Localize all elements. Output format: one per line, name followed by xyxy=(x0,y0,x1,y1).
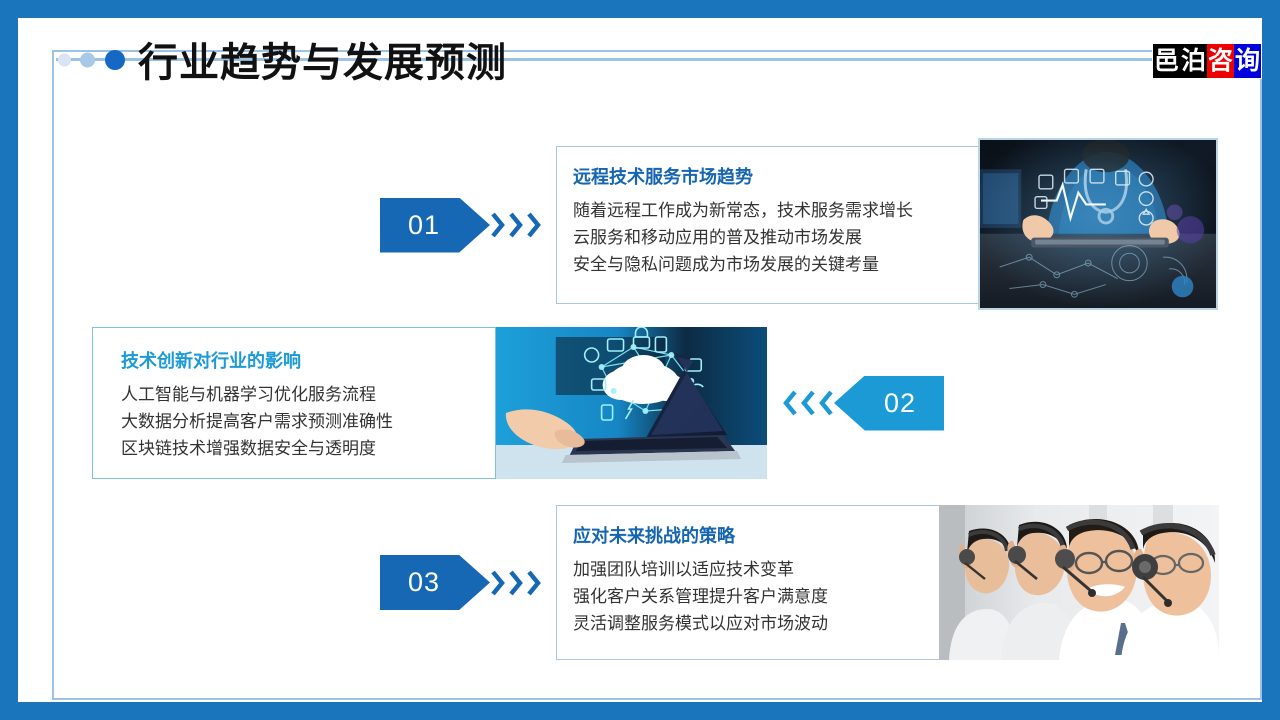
logo-char-1: 邑 xyxy=(1153,44,1180,78)
card-line: 云服务和移动应用的普及推动市场发展 xyxy=(573,224,987,251)
step-number-badge-2: 02 xyxy=(834,376,944,431)
slide: 行业趋势与发展预测 邑 泊 咨 询 01 xyxy=(0,0,1280,720)
card-line: 强化客户关系管理提升客户满意度 xyxy=(573,583,987,610)
content-card-3: 应对未来挑战的策略 加强团队培训以适应技术变革 强化客户关系管理提升客户满意度 … xyxy=(556,505,988,660)
step-number-badge-3: 03 xyxy=(380,555,490,610)
card-line: 随着远程工作成为新常态，技术服务需求增长 xyxy=(573,197,987,224)
logo-char-4: 询 xyxy=(1234,44,1261,78)
chevron-right-icon xyxy=(526,210,542,240)
logo-char-3: 咨 xyxy=(1207,44,1234,78)
chevron-right-icon xyxy=(508,568,524,598)
card-line: 加强团队培训以适应技术变革 xyxy=(573,556,987,583)
page-title: 行业趋势与发展预测 xyxy=(138,33,507,93)
chevron-right-group-1 xyxy=(490,210,542,240)
chevron-right-icon xyxy=(490,210,506,240)
logo-char-2: 泊 xyxy=(1180,44,1207,78)
card-image-3 xyxy=(939,505,1219,660)
step-number-badge-1: 01 xyxy=(380,198,490,253)
content-row-1: 01 远程技术服务市场趋势 随着远程工作成为新常态，技术服务需求增 xyxy=(380,146,988,304)
chevron-right-icon xyxy=(526,568,542,598)
card-text-3: 应对未来挑战的策略 加强团队培训以适应技术变革 强化客户关系管理提升客户满意度 … xyxy=(557,506,987,659)
company-logo: 邑 泊 咨 询 xyxy=(1152,43,1262,79)
chevron-right-icon xyxy=(490,568,506,598)
chevron-left-group-2 xyxy=(782,388,834,418)
chevron-left-icon xyxy=(782,388,798,418)
dot-large-icon xyxy=(105,50,125,70)
card-heading-3: 应对未来挑战的策略 xyxy=(573,525,987,547)
title-dots xyxy=(58,48,138,72)
content-row-3: 03 应对未来挑战的策略 加强团队培训以适应技术变革 xyxy=(380,505,988,660)
chevron-right-icon xyxy=(508,210,524,240)
dot-small-icon xyxy=(58,54,71,67)
chevron-left-icon xyxy=(800,388,816,418)
content-card-1: 远程技术服务市场趋势 随着远程工作成为新常态，技术服务需求增长 云服务和移动应用… xyxy=(556,146,988,304)
card-line: 安全与隐私问题成为市场发展的关键考量 xyxy=(573,251,987,278)
dot-medium-icon xyxy=(80,53,95,68)
slide-header: 行业趋势与发展预测 邑 泊 咨 询 xyxy=(52,36,1264,100)
card-image-2 xyxy=(495,327,767,479)
card-image-1 xyxy=(978,138,1218,310)
chevron-left-icon xyxy=(818,388,834,418)
chevron-right-group-3 xyxy=(490,568,542,598)
step-marker-3[interactable]: 03 xyxy=(380,555,542,610)
step-marker-2[interactable]: 02 xyxy=(782,376,944,431)
card-text-1: 远程技术服务市场趋势 随着远程工作成为新常态，技术服务需求增长 云服务和移动应用… xyxy=(557,147,987,303)
card-heading-1: 远程技术服务市场趋势 xyxy=(573,166,987,188)
slide-inner-area: 行业趋势与发展预测 邑 泊 咨 询 01 xyxy=(18,18,1262,702)
step-marker-1[interactable]: 01 xyxy=(380,198,542,253)
card-line: 灵活调整服务模式以应对市场波动 xyxy=(573,610,987,637)
